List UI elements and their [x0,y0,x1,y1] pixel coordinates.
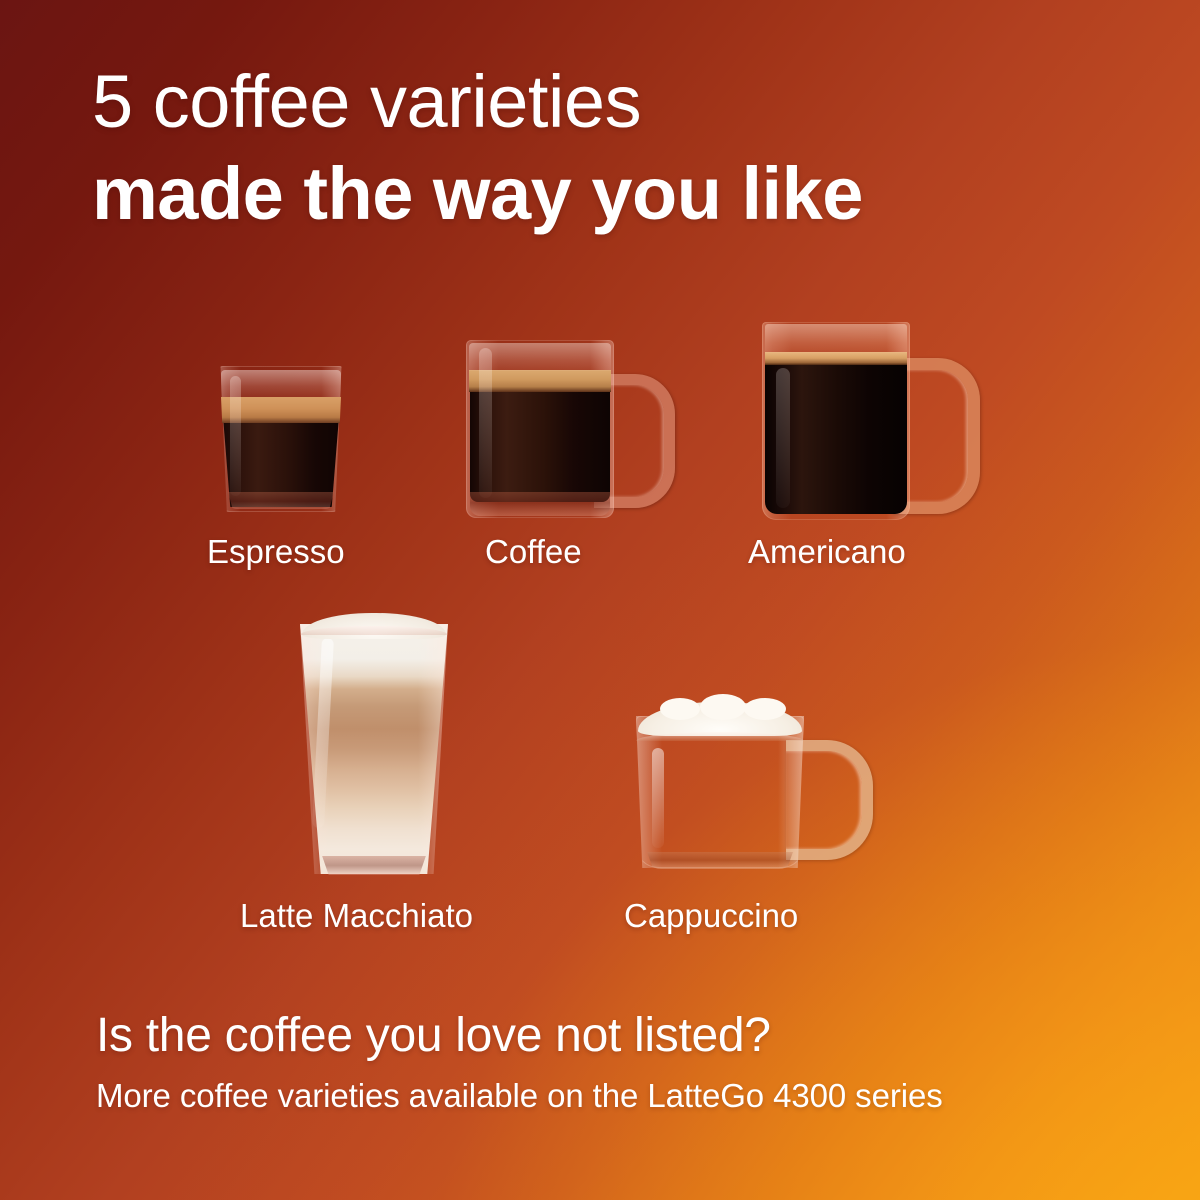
cappuccino-milk-foam-dome [638,702,802,736]
drink-illustration-americano [762,322,972,520]
espresso-glass-shine [230,376,241,496]
drink-illustration-espresso [218,366,344,512]
drink-label-latte-macchiato: Latte Macchiato [240,897,473,935]
cappuccino-foam-bubble-center [700,694,746,720]
cappuccino-foam-bubble-left [660,698,700,720]
latte-glass-base [320,856,428,875]
drink-illustration-cappuccino [636,716,866,868]
americano-crema-layer [765,352,907,365]
coffee-glass-shine [479,348,492,498]
drink-label-americano: Americano [748,533,906,571]
drink-label-espresso: Espresso [207,533,345,571]
cappuccino-cup-base [644,852,796,869]
drink-illustration-coffee [466,340,666,518]
americano-rim-highlight [765,324,907,353]
coffee-varieties-poster: 5 coffee varieties made the way you like… [0,0,1200,1200]
coffee-mug-base [470,492,610,516]
drink-label-cappuccino: Cappuccino [624,897,798,935]
footer-subtext: More coffee varieties available on the L… [96,1077,1116,1115]
drink-label-coffee: Coffee [485,533,582,571]
latte-right-sheen [418,624,448,874]
footer-block: Is the coffee you love not listed? More … [96,1008,1116,1115]
americano-glass-shine [776,368,790,508]
drink-illustration-latte-macchiato [300,624,448,874]
cappuccino-glass-shine [652,748,664,848]
espresso-glass-base [226,492,336,509]
headline-line-1: 5 coffee varieties [92,62,1122,142]
headline-line-2: made the way you like [92,154,1122,234]
page-title: 5 coffee varieties made the way you like [92,62,1122,234]
footer-question: Is the coffee you love not listed? [96,1008,1116,1063]
cappuccino-foam-bubble-right [744,698,786,720]
